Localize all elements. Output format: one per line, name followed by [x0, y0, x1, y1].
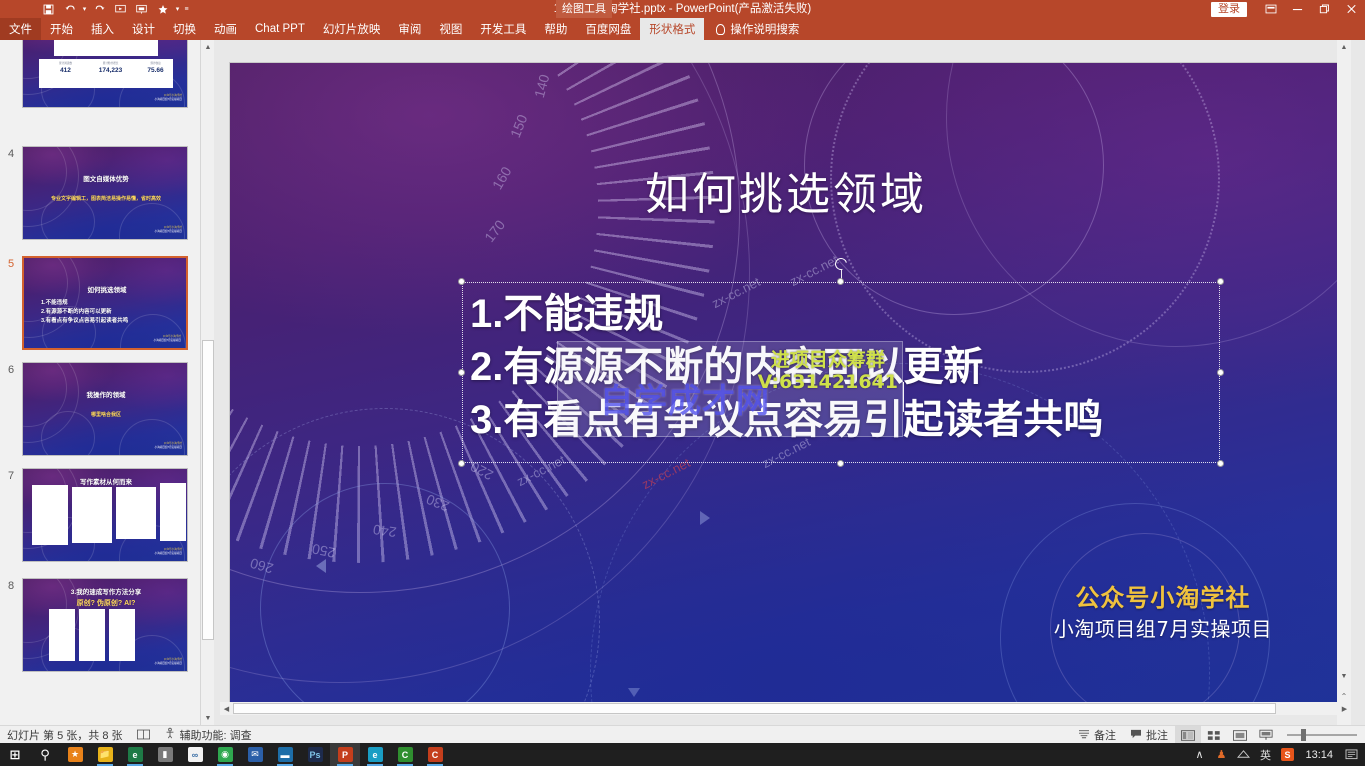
thumbnail-footer: 公众号小淘学社小淘项目组7月实操项目 — [155, 548, 182, 556]
thumbnail-footer: 公众号小淘学社小淘项目组7月实操项目 — [155, 94, 182, 102]
thumbnail-footer-subtitle: 小淘项目组7月实操项目 — [155, 98, 182, 102]
resize-handle-top-left[interactable] — [458, 278, 465, 285]
favorites-dropdown-icon[interactable]: ▾ — [173, 1, 182, 18]
thumbnail-bullet: 3.有看点有争议点容易引起读者共鸣 — [41, 316, 128, 324]
thumbnail-footer-subtitle: 小淘项目组7月实操项目 — [155, 662, 182, 666]
thumbnail-subtitle: 哪里啥合我区 — [23, 411, 188, 418]
ribbon-display-options-icon[interactable] — [1257, 0, 1284, 18]
powerpoint-icon[interactable]: P — [330, 743, 360, 766]
powerpoint-window: 1公众号小淘学社.pptx - PowerPoint(产品激活失败) 绘图工具 … — [0, 0, 1365, 766]
thumbnail-stat-label: 预计收益 — [133, 61, 178, 65]
undo-icon[interactable] — [59, 1, 80, 18]
slide-footer-subtitle: 小淘项目组7月实操项目 — [1054, 615, 1272, 643]
restore-icon[interactable] — [1311, 0, 1338, 18]
ribbon-tab-11[interactable]: 开发工具 — [471, 18, 535, 40]
status-bar: 幻灯片 第 5 张，共 8 张 辅助功能: 调查 备注 批注 — [0, 725, 1365, 743]
favorites-icon[interactable] — [152, 1, 173, 18]
slideshow-view-icon[interactable] — [1253, 726, 1279, 744]
thumbnail-title: 图文自媒体优势 — [23, 173, 188, 183]
decor-arrow-right-icon — [700, 511, 710, 525]
start-button-icon[interactable]: ⊞ — [0, 743, 30, 766]
decor-arrow-left-icon — [316, 559, 326, 573]
thumbnail-bullet: 1.不能违规 — [41, 298, 68, 306]
thumbnail-subtitle: 原创? 伪原创? AI? — [23, 598, 188, 608]
thumbnail-title: 我操作的领域 — [23, 389, 188, 399]
bullet-number: 1. — [470, 292, 503, 336]
ribbon-tab-bar: 文件开始插入设计切换动画Chat PPT幻灯片放映审阅视图开发工具帮助百度网盘形… — [0, 18, 1365, 40]
search-icon[interactable]: ⚲ — [30, 743, 60, 766]
promo-line-1: 进项目众筹群 — [758, 349, 898, 371]
thumbnail-stat-value: 412 — [43, 67, 88, 74]
thumbnail-image — [49, 609, 75, 661]
current-slide[interactable]: 140 150 160 170 260 250 240 230 220 如何挑选… — [230, 63, 1342, 711]
notes-icon — [1078, 729, 1090, 742]
ribbon-tab-1[interactable]: 文件 — [0, 18, 41, 40]
horizontal-scrollbar-thumb[interactable] — [233, 703, 1276, 714]
slide-thumbnail-preview[interactable]: 我操作的领域哪里啥合我区公众号小淘学社小淘项目组7月实操项目 — [22, 362, 188, 456]
thumbnail-image — [79, 609, 105, 661]
slide-thumbnail-8[interactable]: 83.我的速成写作方法分享原创? 伪原创? AI?公众号小淘学社小淘项目组7月实… — [0, 578, 188, 672]
ribbon-tab-5[interactable]: 切换 — [164, 18, 205, 40]
bullet-number: 2. — [470, 345, 503, 389]
lightbulb-icon — [716, 24, 725, 35]
text-cursor — [903, 382, 904, 412]
present-current-slide-icon[interactable] — [131, 1, 152, 18]
notes-label: 备注 — [1094, 727, 1116, 743]
slide-footer-brand: 公众号小淘学社 — [1054, 581, 1272, 615]
chrome-browser-icon[interactable]: ◉ — [210, 743, 240, 766]
redo-icon[interactable] — [89, 1, 110, 18]
show-hidden-icons-icon[interactable]: ∧ — [1189, 743, 1209, 766]
quick-access-toolbar: ▾ ▾ ≡ — [38, 0, 191, 18]
comment-icon — [1130, 729, 1142, 742]
tell-me-label: 操作说明搜索 — [730, 21, 799, 37]
decor-arrow-down-icon — [628, 688, 640, 697]
thumbnail-card — [54, 40, 158, 56]
network-icon[interactable] — [1233, 743, 1253, 766]
resize-handle-top-right[interactable] — [1217, 278, 1224, 285]
tell-me-search[interactable]: 操作说明搜索 — [704, 18, 799, 40]
thumbnail-subtitle: 专业文字编辑工，图表简洁易操作易懂，省时高效 — [23, 195, 188, 202]
ribbon-tab-9[interactable]: 审阅 — [389, 18, 430, 40]
taskbar-app-teal-icon[interactable]: ▬ — [270, 743, 300, 766]
scroll-left-icon[interactable]: ◀ — [220, 702, 233, 715]
login-button[interactable]: 登录 — [1211, 2, 1247, 17]
slide-thumbnail-5[interactable]: 5如何挑选领域1.不能违规2.有源源不断的内容可以更新3.有看点有争议点容易引起… — [0, 256, 188, 350]
ime-language-icon[interactable]: 英 — [1255, 743, 1275, 766]
slide-thumbnail-pane[interactable]: 3成果展示412累计阅读数174,223累计粉丝增长75.66预计收益公众号小淘… — [0, 40, 200, 725]
thumbnail-stat-value: 75.66 — [133, 67, 178, 74]
bullet-text: 不能违规 — [503, 291, 663, 337]
resize-handle-bottom-center[interactable] — [837, 460, 844, 467]
promo-watermark-box: 自学成才网 进项目众筹群 V:631421641 — [557, 341, 903, 437]
reading-view-icon[interactable] — [1227, 726, 1253, 744]
site-logo-watermark: 自学成才网 — [600, 374, 770, 422]
windows-taskbar: ⊞⚲★📁e▮∞◉✉▬PsPeCC ∧ ♟ 英 S 13:14 — [0, 743, 1365, 766]
slide-vertical-scrollbar[interactable]: ▲ ▼ ⌃ ⌄ — [1337, 40, 1351, 725]
ribbon-tab-7[interactable]: Chat PPT — [246, 18, 314, 40]
slide-thumbnail-6[interactable]: 6我操作的领域哪里啥合我区公众号小淘学社小淘项目组7月实操项目 — [0, 362, 188, 456]
slide-thumbnail-number: 6 — [0, 362, 22, 376]
thumbnail-stat-label: 累计阅读数 — [43, 61, 88, 65]
thumbnail-footer-subtitle: 小淘项目组7月实操项目 — [154, 339, 181, 343]
minimize-icon[interactable] — [1284, 0, 1311, 18]
slide-thumbnail-number: 4 — [0, 146, 22, 160]
slide-footer: 公众号小淘学社 小淘项目组7月实操项目 — [1054, 581, 1272, 643]
taskbar-app-cyan-icon[interactable]: e — [360, 743, 390, 766]
slide-thumbnail-preview[interactable]: 成果展示412累计阅读数174,223累计粉丝增长75.66预计收益公众号小淘学… — [22, 40, 188, 108]
ime-label: 英 — [1260, 747, 1271, 763]
resize-handle-middle-left[interactable] — [458, 369, 465, 376]
taskbar-app-red-icon[interactable]: C — [420, 743, 450, 766]
window-controls: 登录 — [1211, 0, 1365, 18]
ribbon-tab-8[interactable]: 幻灯片放映 — [314, 18, 390, 40]
start-slideshow-icon[interactable] — [110, 1, 131, 18]
resize-handle-middle-right[interactable] — [1217, 369, 1224, 376]
slide-horizontal-scrollbar[interactable]: ◀ ▶ — [220, 702, 1351, 715]
slide-thumbnail-3[interactable]: 3成果展示412累计阅读数174,223累计粉丝增长75.66预计收益公众号小淘… — [0, 40, 188, 108]
close-icon[interactable] — [1338, 0, 1365, 18]
thumbnail-image — [116, 487, 156, 539]
taskbar-app-green-icon[interactable]: C — [390, 743, 420, 766]
thumbnail-footer: 公众号小淘学社小淘项目组7月实操项目 — [154, 335, 181, 343]
zoom-knob[interactable] — [1301, 729, 1306, 741]
zoom-track — [1287, 734, 1357, 736]
language-icon[interactable] — [130, 726, 157, 744]
comments-button[interactable]: 批注 — [1123, 726, 1175, 744]
bullet-line-1: 1.不能违规 — [470, 288, 1215, 341]
promo-watermark-text: 进项目众筹群 V:631421641 — [758, 349, 898, 394]
thumbnail-image — [109, 609, 135, 661]
contextual-tab-group-label: 绘图工具 — [556, 0, 612, 18]
sogou-label: S — [1281, 748, 1294, 761]
ribbon-tab-10[interactable]: 视图 — [430, 18, 471, 40]
thumbnail-scroll-down-icon[interactable]: ▼ — [201, 711, 215, 725]
slide-thumbnail-preview[interactable]: 写作素材从何而来公众号小淘学社小淘项目组7月实操项目 — [22, 468, 188, 562]
ribbon-tab-4[interactable]: 设计 — [123, 18, 164, 40]
taskbar-clock[interactable]: 13:14 — [1299, 749, 1339, 761]
ribbon-tab-14[interactable]: 形状格式 — [640, 18, 704, 40]
thumbnail-scroll-up-icon[interactable]: ▲ — [201, 40, 215, 54]
scroll-right-icon[interactable]: ▶ — [1338, 702, 1351, 715]
undo-dropdown-icon[interactable]: ▾ — [80, 1, 89, 18]
promo-line-2: V:631421641 — [758, 371, 898, 393]
slide-thumbnail-preview[interactable]: 如何挑选领域1.不能违规2.有源源不断的内容可以更新3.有看点有争议点容易引起读… — [22, 256, 188, 350]
resize-handle-top-center[interactable] — [837, 278, 844, 285]
photoshop-icon[interactable]: Ps — [300, 743, 330, 766]
previous-slide-icon[interactable]: ⌃ — [1337, 689, 1351, 703]
sogou-ime-icon[interactable]: S — [1277, 743, 1297, 766]
notes-button[interactable]: 备注 — [1071, 726, 1123, 744]
accessibility-icon — [164, 727, 176, 742]
thumbnail-image — [160, 483, 186, 541]
thumbnail-footer: 公众号小淘学社小淘项目组7月实操项目 — [155, 658, 182, 666]
file-explorer-icon[interactable]: 📁 — [90, 743, 120, 766]
resize-handle-bottom-left[interactable] — [458, 460, 465, 467]
slide-thumbnail-number: 8 — [0, 578, 22, 592]
ribbon-tabs: 文件开始插入设计切换动画Chat PPT幻灯片放映审阅视图开发工具帮助百度网盘形… — [0, 18, 1365, 40]
thumbnail-footer: 公众号小淘学社小淘项目组7月实操项目 — [155, 442, 182, 450]
workspace: 3成果展示412累计阅读数174,223累计粉丝增长75.66预计收益公众号小淘… — [0, 40, 1365, 725]
edge-browser-icon[interactable]: e — [120, 743, 150, 766]
thumbnail-scrollbar-thumb[interactable] — [202, 340, 214, 640]
slide-thumbnail-preview[interactable]: 图文自媒体优势专业文字编辑工，图表简洁易操作易懂，省时高效公众号小淘学社小淘项目… — [22, 146, 188, 240]
status-bar-right: 备注 批注 — [1071, 726, 1365, 744]
usb-device-icon[interactable]: ▮ — [150, 743, 180, 766]
slide-thumbnail-4[interactable]: 4图文自媒体优势专业文字编辑工，图表简洁易操作易懂，省时高效公众号小淘学社小淘项… — [0, 146, 188, 240]
title-bar: 1公众号小淘学社.pptx - PowerPoint(产品激活失败) 绘图工具 … — [0, 0, 1365, 18]
accessibility-status[interactable]: 辅助功能: 调查 — [157, 726, 259, 744]
slide-thumbnail-number: 7 — [0, 468, 22, 482]
slide-title-text[interactable]: 如何挑选领域 — [230, 158, 1342, 222]
slide-thumbnail-number: 5 — [0, 256, 22, 270]
taskbar-app-orange-icon[interactable]: ★ — [60, 743, 90, 766]
slide-scroll-down-icon[interactable]: ▼ — [1337, 669, 1351, 683]
thumbnail-title: 3.我的速成写作方法分享 — [23, 586, 188, 596]
thumbnail-footer-subtitle: 小淘项目组7月实操项目 — [155, 446, 182, 450]
slide-counter[interactable]: 幻灯片 第 5 张，共 8 张 — [0, 726, 130, 744]
body-text-placeholder[interactable]: 1.不能违规 2.有源源不断的内容可以更新 3.有看点有争议点容易引起读者共鸣 … — [462, 282, 1220, 463]
thumbnail-footer-subtitle: 小淘项目组7月实操项目 — [155, 230, 182, 234]
thumbnail-image — [72, 487, 112, 543]
thumbnail-footer: 公众号小淘学社小淘项目组7月实操项目 — [155, 226, 182, 234]
ribbon-tab-2[interactable]: 开始 — [41, 18, 82, 40]
thumbnail-image — [32, 485, 68, 545]
slide-thumbnail-7[interactable]: 7写作素材从何而来公众号小淘学社小淘项目组7月实操项目 — [0, 468, 188, 562]
thumbnail-footer-subtitle: 小淘项目组7月实操项目 — [155, 552, 182, 556]
thumbnail-title: 如何挑选领域 — [24, 284, 188, 294]
save-icon[interactable] — [38, 1, 59, 18]
bullet-number: 3. — [470, 398, 503, 442]
gauge-number: 240 — [372, 521, 397, 540]
system-tray: ∧ ♟ 英 S 13:14 — [1189, 743, 1365, 766]
normal-view-icon[interactable] — [1175, 726, 1201, 744]
ribbon-tab-13[interactable]: 百度网盘 — [576, 18, 640, 40]
resize-handle-bottom-right[interactable] — [1217, 460, 1224, 467]
thumbnail-stat-value: 174,223 — [88, 67, 133, 74]
comments-label: 批注 — [1146, 727, 1168, 743]
ribbon-tab-3[interactable]: 插入 — [82, 18, 123, 40]
slide-editing-stage: 140 150 160 170 260 250 240 230 220 如何挑选… — [220, 40, 1351, 725]
taskbar-app-blue-icon[interactable]: ✉ — [240, 743, 270, 766]
taskbar-app-white-icon[interactable]: ∞ — [180, 743, 210, 766]
thumbnail-pane-scrollbar[interactable]: ▲ ▼ — [200, 40, 214, 725]
zoom-slider[interactable] — [1279, 726, 1365, 744]
thumbnail-stat-label: 累计粉丝增长 — [88, 61, 133, 65]
slide-scroll-up-icon[interactable]: ▲ — [1337, 40, 1351, 54]
accessibility-label: 辅助功能: 调查 — [180, 727, 252, 743]
slide-sorter-view-icon[interactable] — [1201, 726, 1227, 744]
tray-app-icon[interactable]: ♟ — [1211, 743, 1231, 766]
ribbon-tab-6[interactable]: 动画 — [205, 18, 246, 40]
thumbnail-bullet: 2.有源源不断的内容可以更新 — [41, 307, 112, 315]
ribbon-tab-12[interactable]: 帮助 — [535, 18, 576, 40]
window-title: 1公众号小淘学社.pptx - PowerPoint(产品激活失败) — [0, 0, 1365, 18]
notification-center-icon[interactable] — [1341, 743, 1361, 766]
customize-qat-icon[interactable]: ≡ — [182, 1, 191, 18]
slide-thumbnail-preview[interactable]: 3.我的速成写作方法分享原创? 伪原创? AI?公众号小淘学社小淘项目组7月实操… — [22, 578, 188, 672]
